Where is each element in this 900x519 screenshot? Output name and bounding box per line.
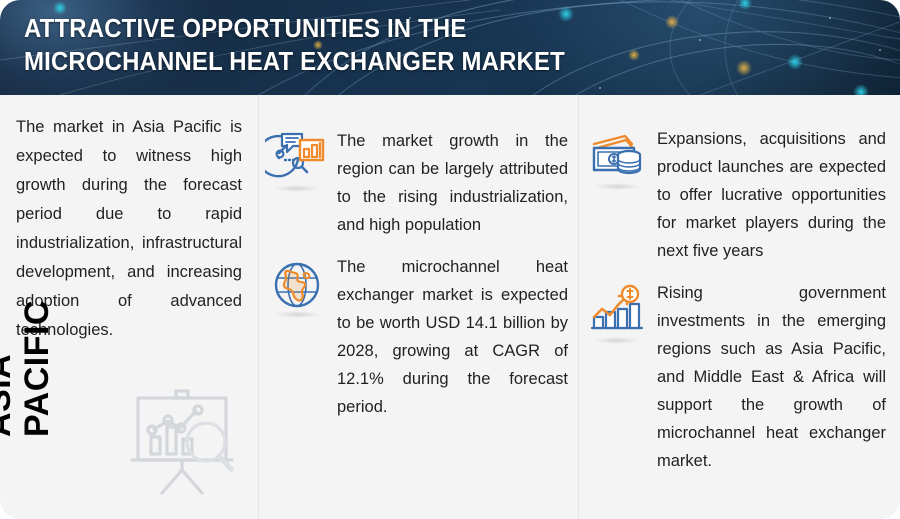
infographic-page: ATTRACTIVE OPPORTUNITIES IN THE MICROCHA… bbox=[0, 0, 900, 519]
right-item-1-text: Expansions, acquisitions and product lau… bbox=[657, 125, 886, 265]
money-cash-coins-icon bbox=[585, 125, 649, 189]
right-item-1: Expansions, acquisitions and product lau… bbox=[585, 125, 886, 265]
icon-shadow bbox=[594, 337, 640, 344]
content-area: The market in Asia Pacific is expected t… bbox=[0, 95, 900, 519]
middle-column: The market growth in the region can be l… bbox=[258, 95, 578, 519]
presentation-chart-magnifier-icon bbox=[118, 381, 246, 501]
icon-shadow bbox=[594, 183, 640, 190]
region-label: ASIA PACIFIC bbox=[0, 267, 56, 437]
page-title: ATTRACTIVE OPPORTUNITIES IN THE MICROCHA… bbox=[24, 12, 723, 78]
middle-item-1: The market growth in the region can be l… bbox=[265, 127, 568, 239]
icon-shadow bbox=[274, 311, 320, 318]
right-item-2: Rising government investments in the eme… bbox=[585, 279, 886, 475]
right-item-2-text: Rising government investments in the eme… bbox=[657, 279, 886, 475]
right-column: Expansions, acquisitions and product lau… bbox=[578, 95, 900, 519]
region-label-wrap: ASIA PACIFIC bbox=[10, 333, 130, 513]
middle-item-2: The microchannel heat exchanger market i… bbox=[265, 253, 568, 421]
middle-item-1-text: The market growth in the region can be l… bbox=[337, 127, 568, 239]
middle-item-2-text: The microchannel heat exchanger market i… bbox=[337, 253, 568, 421]
icon-shadow bbox=[274, 185, 320, 192]
globe-icon bbox=[265, 253, 329, 317]
market-research-icon bbox=[265, 127, 329, 191]
growth-bar-chart-dollar-icon bbox=[585, 279, 649, 343]
left-column: The market in Asia Pacific is expected t… bbox=[0, 95, 258, 519]
header-banner: ATTRACTIVE OPPORTUNITIES IN THE MICROCHA… bbox=[0, 0, 900, 95]
